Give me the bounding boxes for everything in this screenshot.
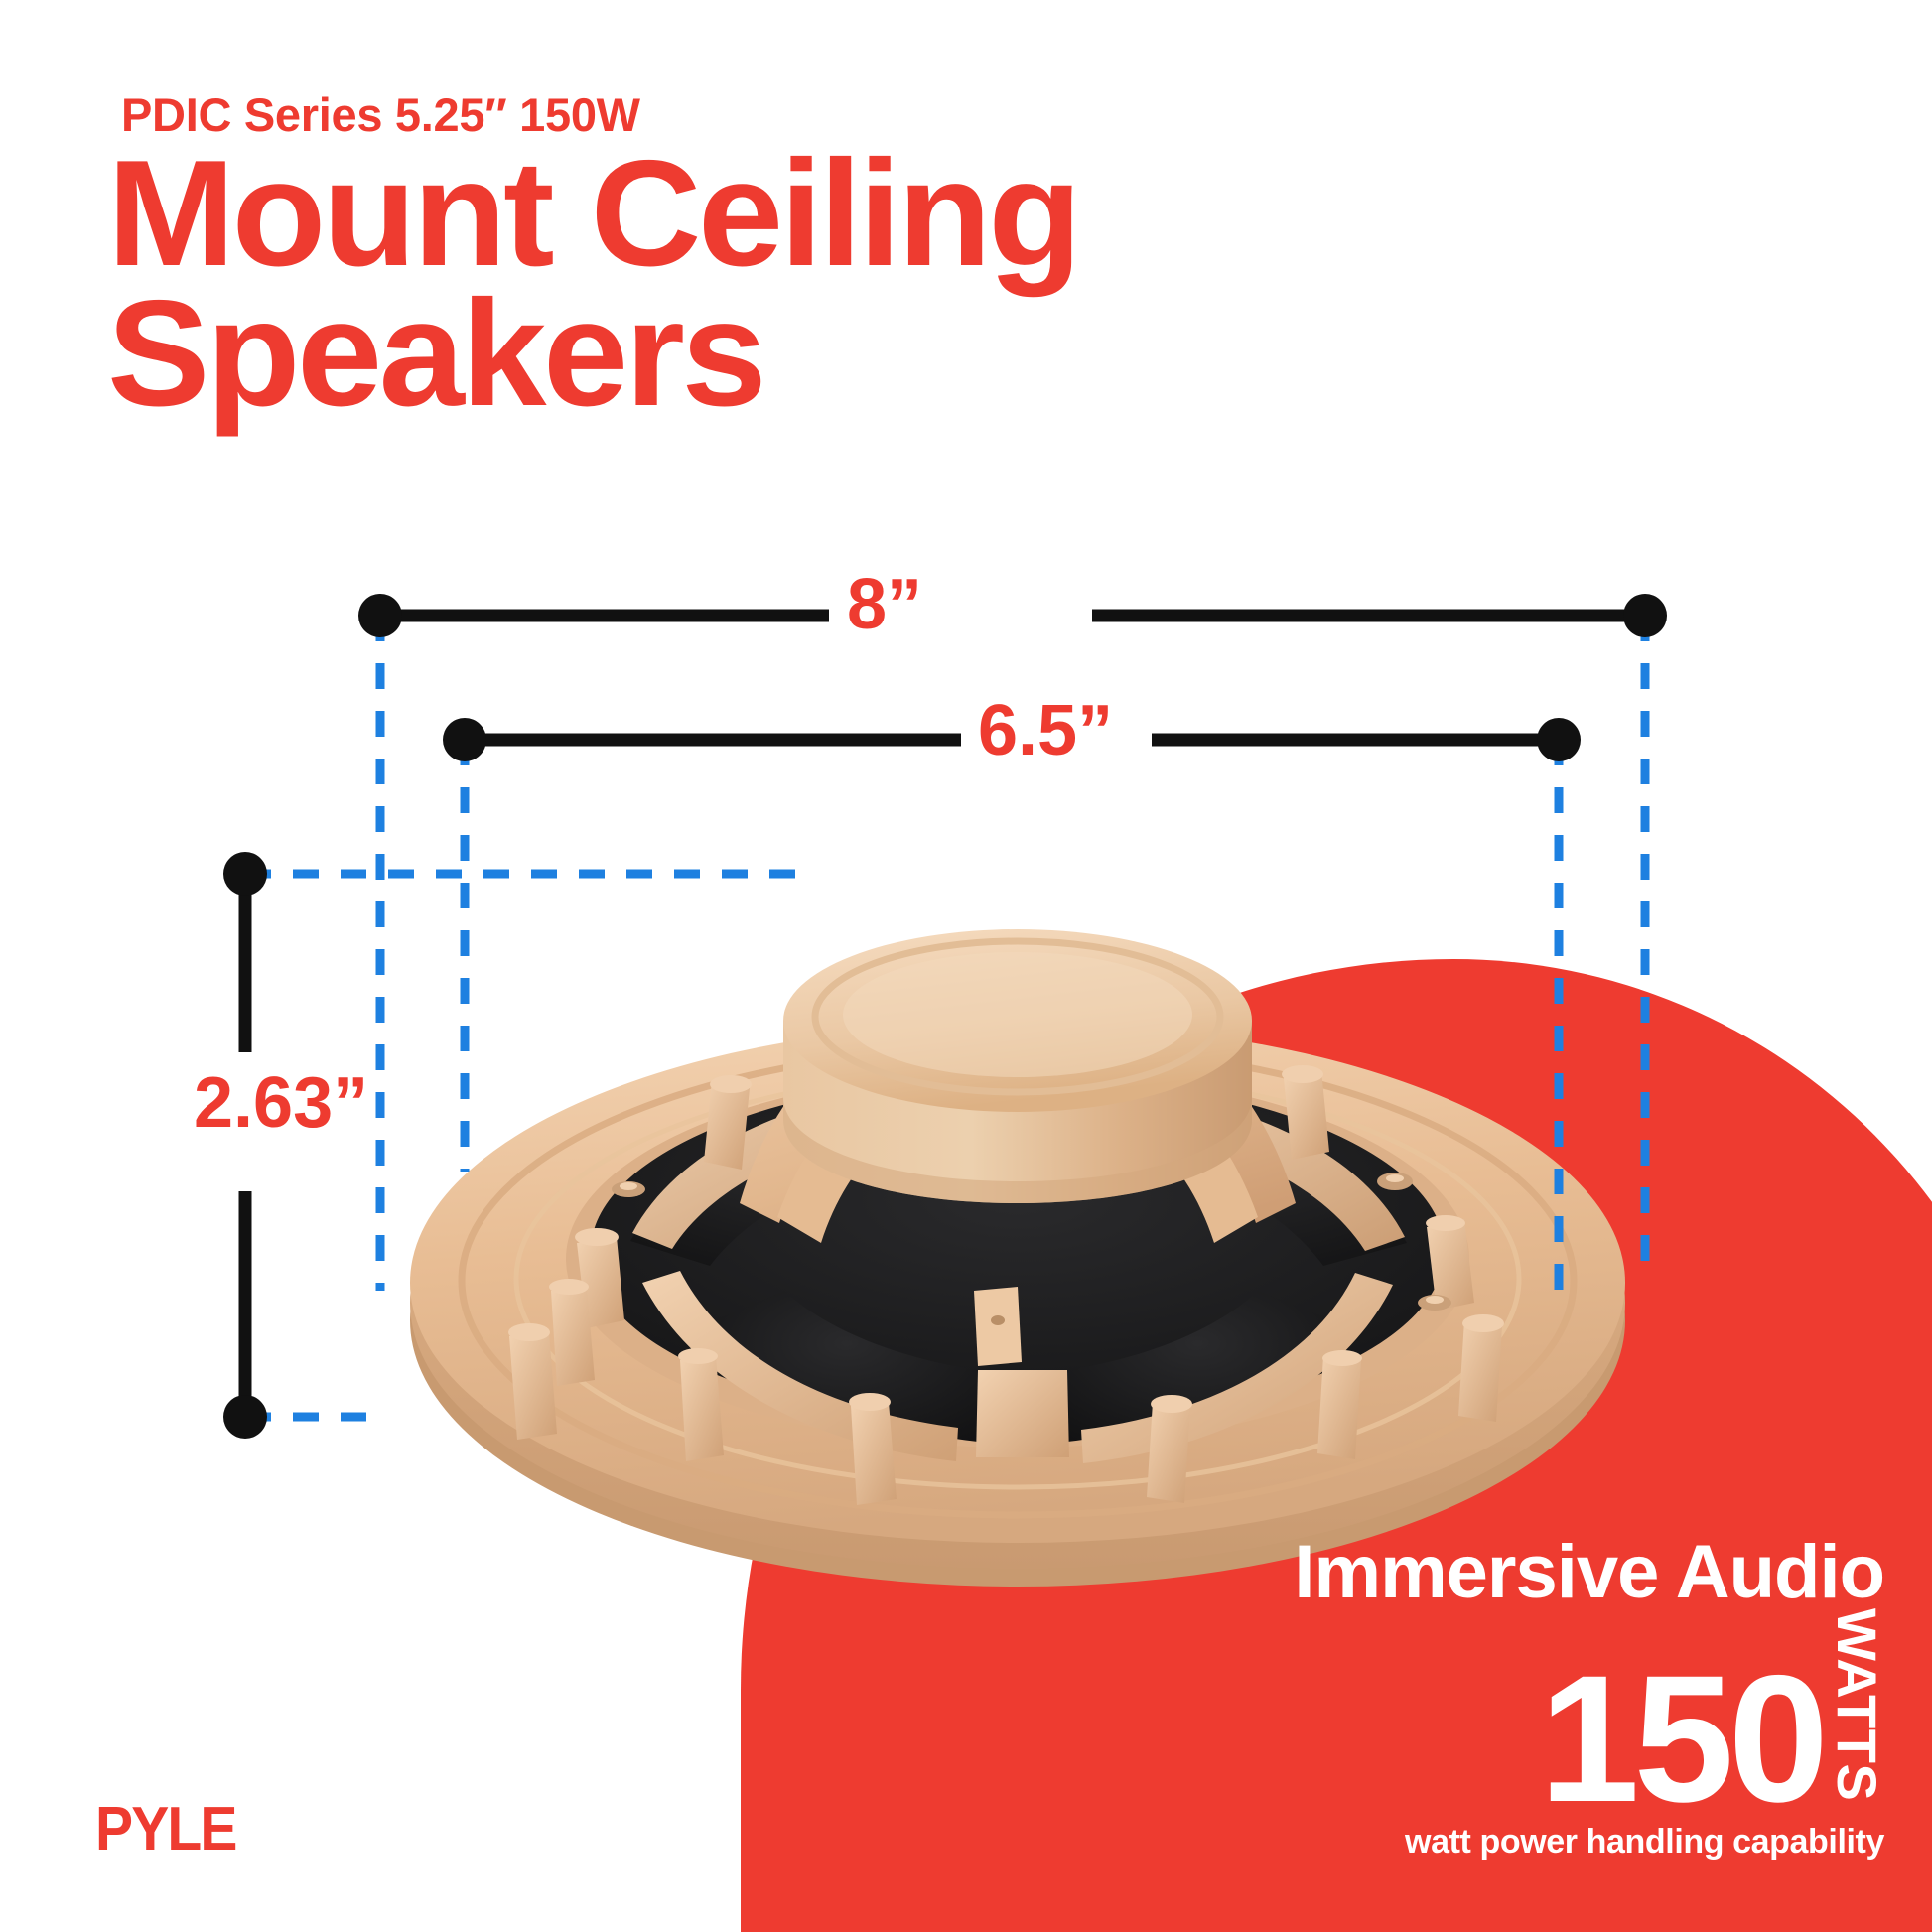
dimension-line-outer-width [358, 594, 1667, 637]
pyle-logo: PYLE [95, 1799, 236, 1861]
badge-wattage-unit: WATTS [1829, 1608, 1884, 1801]
power-badge: Immersive Audio 150 WATTS watt power han… [1294, 1535, 1884, 1859]
badge-value-row: 150 WATTS [1294, 1612, 1884, 1813]
dimension-line-inner-width [443, 718, 1581, 761]
dimension-line-depth [223, 852, 267, 1439]
dimension-label-inner-width: 6.5” [978, 695, 1113, 766]
dimension-label-depth: 2.63” [194, 1067, 368, 1139]
dimension-label-outer-width: 8” [847, 569, 922, 640]
badge-wattage-number: 150 [1539, 1665, 1823, 1813]
header-block: PDIC Series 5.25″ 150W Mount Ceiling Spe… [107, 91, 1059, 425]
badge-subtitle: watt power handling capability [1294, 1825, 1884, 1859]
badge-title: Immersive Audio [1294, 1535, 1884, 1610]
infographic-canvas: PDIC Series 5.25″ 150W Mount Ceiling Spe… [0, 0, 1932, 1932]
page-title: Mount Ceiling Speakers [107, 144, 1078, 425]
product-image [382, 854, 1653, 1638]
